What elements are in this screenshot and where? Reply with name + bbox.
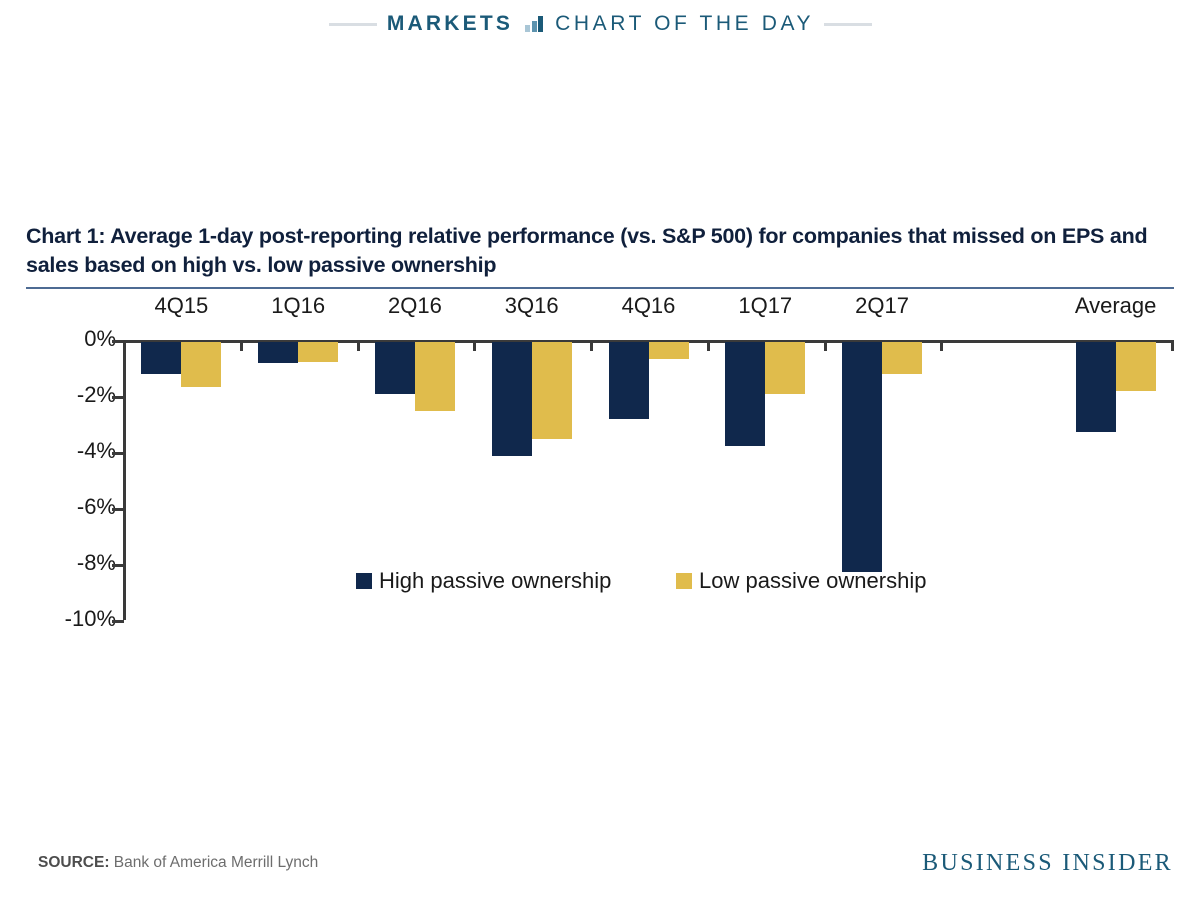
chart-bar: [609, 342, 649, 419]
chart-bar: [765, 342, 805, 394]
legend-label: Low passive ownership: [699, 568, 926, 594]
chart-bar: [181, 342, 221, 387]
y-axis-tick-mark: [112, 508, 124, 511]
title-divider: [26, 287, 1174, 289]
chart-bar: [415, 342, 455, 411]
chart-bar: [649, 342, 689, 359]
x-axis-tick-mark: [940, 340, 943, 351]
legend-swatch: [676, 573, 692, 589]
x-axis-tick-mark: [824, 340, 827, 351]
legend-label: High passive ownership: [379, 568, 611, 594]
bar-chart-icon: [525, 16, 543, 32]
y-axis-tick-label: 0%: [26, 326, 116, 352]
masthead-rule-right: [824, 23, 872, 26]
chart-bar: [141, 342, 181, 374]
masthead-rule-left: [329, 23, 377, 26]
x-axis-category-label: Average: [1057, 293, 1174, 319]
y-axis-tick-mark: [112, 396, 124, 399]
chart-bar: [1116, 342, 1156, 391]
x-axis-tick-mark: [707, 340, 710, 351]
y-axis-tick-label: -2%: [26, 382, 116, 408]
chart-bar: [375, 342, 415, 394]
y-axis-tick-mark: [112, 452, 124, 455]
x-axis-category-label: 2Q16: [357, 293, 474, 319]
y-axis-tick-label: -10%: [26, 606, 116, 632]
source-credit: SOURCE: Bank of America Merrill Lynch: [38, 854, 318, 872]
x-axis-tick-mark: [240, 340, 243, 351]
x-axis-tick-mark: [473, 340, 476, 351]
x-axis-category-label: 4Q15: [123, 293, 240, 319]
chart-bar: [298, 342, 338, 362]
x-axis-tick-mark: [590, 340, 593, 351]
chart-bar: [492, 342, 532, 455]
chart-legend: High passive ownershipLow passive owners…: [26, 568, 1174, 608]
masthead-inner: MARKETS CHART OF THE DAY: [377, 12, 824, 36]
x-axis-category-label: 1Q16: [240, 293, 357, 319]
chart-bar: [1076, 342, 1116, 432]
footer: SOURCE: Bank of America Merrill Lynch BU…: [0, 844, 1201, 900]
masthead: MARKETS CHART OF THE DAY: [0, 0, 1201, 48]
source-label: SOURCE:: [38, 854, 109, 871]
x-axis-tick-mark: [1171, 340, 1174, 351]
legend-item[interactable]: Low passive ownership: [676, 568, 926, 594]
y-axis-tick-label: -4%: [26, 438, 116, 464]
source-value: Bank of America Merrill Lynch: [114, 854, 318, 871]
chart-bar: [842, 342, 882, 572]
x-axis-category-label: 4Q16: [590, 293, 707, 319]
y-axis-tick-mark: [112, 564, 124, 567]
chart-bar: [882, 342, 922, 374]
y-axis-tick-label: -6%: [26, 494, 116, 520]
x-axis-category-label: 2Q17: [824, 293, 941, 319]
legend-item[interactable]: High passive ownership: [356, 568, 611, 594]
x-axis-tick-mark: [357, 340, 360, 351]
x-axis-category-label: 3Q16: [473, 293, 590, 319]
y-axis-tick-mark: [112, 340, 124, 343]
masthead-tagline: CHART OF THE DAY: [555, 12, 814, 36]
chart-bar: [725, 342, 765, 446]
chart-bar: [258, 342, 298, 363]
chart-block: Chart 1: Average 1-day post-reporting re…: [26, 222, 1174, 633]
legend-swatch: [356, 573, 372, 589]
x-axis-category-labels: 4Q151Q162Q163Q164Q161Q172Q17Average: [26, 293, 1174, 323]
chart-title: Chart 1: Average 1-day post-reporting re…: [26, 222, 1174, 279]
chart-plot-area: 4Q151Q162Q163Q164Q161Q172Q17Average 0%-2…: [26, 293, 1174, 633]
business-insider-logo: BUSINESS INSIDER: [922, 850, 1173, 877]
x-axis-category-label: 1Q17: [707, 293, 824, 319]
chart-bar: [532, 342, 572, 439]
y-axis-tick-mark: [112, 620, 124, 623]
masthead-brand: MARKETS: [387, 12, 513, 36]
